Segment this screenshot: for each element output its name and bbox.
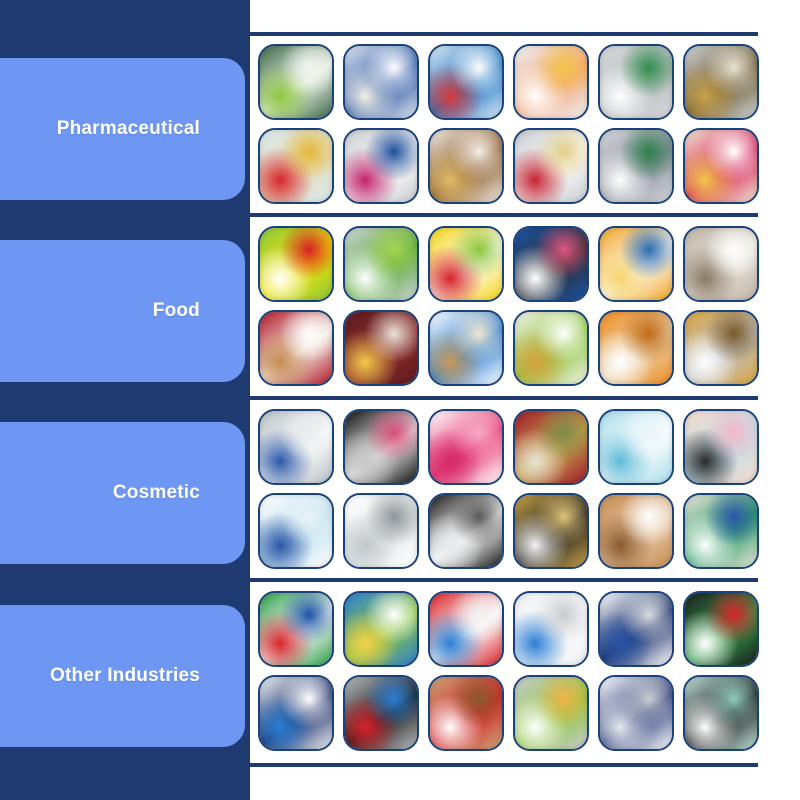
product-photo-navy-electronics-box — [600, 593, 672, 665]
product-tile[interactable] — [343, 591, 419, 667]
product-tile[interactable] — [428, 591, 504, 667]
product-photo-light-blue-skincare-boxes — [600, 411, 672, 483]
product-tile[interactable] — [683, 310, 759, 386]
section-divider-3 — [250, 578, 758, 582]
product-tile[interactable] — [598, 493, 674, 569]
product-tile[interactable] — [598, 44, 674, 120]
product-photo-blue-white-pharma-box-leaflets — [345, 46, 417, 118]
product-tile[interactable] — [683, 226, 759, 302]
category-label-food: Food — [153, 300, 200, 322]
product-tile[interactable] — [598, 409, 674, 485]
product-tile[interactable] — [343, 128, 419, 204]
product-photo-aqua-cream-jar-with-carton — [260, 495, 332, 567]
product-photo-navy-slim-device-box — [600, 677, 672, 749]
product-tile[interactable] — [258, 310, 334, 386]
product-tile[interactable] — [683, 44, 759, 120]
product-photo-bronze-eyeshadow-palette — [600, 495, 672, 567]
product-category-gallery: Pharmaceutical Food Cosmetic Other Indus… — [0, 0, 800, 800]
product-tile[interactable] — [343, 226, 419, 302]
product-photo-pastel-cosmetic-jars-and-boxes — [685, 411, 757, 483]
category-label-cosmetic: Cosmetic — [113, 482, 200, 504]
product-photo-orange-wafer-bar-display — [600, 312, 672, 384]
product-tile[interactable] — [343, 310, 419, 386]
product-tile[interactable] — [428, 44, 504, 120]
product-tile[interactable] — [258, 44, 334, 120]
product-tile[interactable] — [343, 675, 419, 751]
product-photo-skincare-display-stand-boxes — [685, 495, 757, 567]
product-grid-food — [258, 226, 758, 386]
product-photo-lipton-tea-box — [260, 228, 332, 300]
product-photo-stacked-ointment-cartons — [685, 46, 757, 118]
product-photo-cereal-bar-carton-open — [430, 312, 502, 384]
product-photo-chocolate-sandwich-cookie-packs — [515, 228, 587, 300]
product-grid-cosmetic — [258, 409, 758, 569]
product-photo-cracker-stack-with-carton — [515, 312, 587, 384]
product-tile[interactable] — [598, 310, 674, 386]
product-tile[interactable] — [343, 493, 419, 569]
product-photo-red-gold-gift-sachets — [515, 411, 587, 483]
product-tile[interactable] — [513, 226, 589, 302]
product-tile[interactable] — [343, 44, 419, 120]
category-pill-other-industries[interactable]: Other Industries — [0, 605, 245, 747]
product-tile[interactable] — [258, 493, 334, 569]
product-tile[interactable] — [428, 128, 504, 204]
product-tile[interactable] — [598, 128, 674, 204]
category-label-pharmaceutical: Pharmaceutical — [57, 118, 200, 140]
product-grid-pharmaceutical — [258, 44, 758, 204]
product-photo-mosquito-coil-green-carton — [260, 593, 332, 665]
product-photo-gold-black-lipstick-set — [515, 495, 587, 567]
product-tile[interactable] — [683, 128, 759, 204]
product-photo-vial-and-capsule-blister-box — [515, 130, 587, 202]
product-photo-assorted-pens-and-box — [345, 677, 417, 749]
product-photo-silver-foil-sachet-with-carton — [600, 46, 672, 118]
product-tile[interactable] — [513, 493, 589, 569]
product-photo-colgate-toothpaste-and-carton — [430, 593, 502, 665]
product-tile[interactable] — [428, 493, 504, 569]
product-tile[interactable] — [598, 226, 674, 302]
product-photo-syringe-carton-assortment — [600, 130, 672, 202]
product-photo-logo-baby-bottle-teat-packs — [685, 677, 757, 749]
product-tile[interactable] — [513, 128, 589, 204]
product-tile[interactable] — [683, 675, 759, 751]
product-tile[interactable] — [258, 128, 334, 204]
product-tile[interactable] — [258, 409, 334, 485]
section-divider-top — [250, 32, 758, 36]
product-tile[interactable] — [258, 591, 334, 667]
product-photo-ink-bottle-with-carton — [260, 677, 332, 749]
section-divider-bottom — [250, 763, 758, 767]
product-tile[interactable] — [258, 226, 334, 302]
product-tile[interactable] — [428, 675, 504, 751]
section-divider-2 — [250, 396, 758, 400]
product-photo-supplement-bottles-with-cartons — [515, 677, 587, 749]
product-photo-green-medicine-cartons — [260, 46, 332, 118]
product-grid-panel — [250, 0, 800, 800]
product-grid-other — [258, 591, 758, 751]
product-photo-dried-meat-vacuum-packs — [345, 312, 417, 384]
product-photo-red-blue-blister-strip-packs — [430, 46, 502, 118]
product-tile[interactable] — [683, 493, 759, 569]
product-photo-foil-tube-snack-packs — [685, 312, 757, 384]
product-photo-led-bulb-carton — [685, 593, 757, 665]
product-photo-white-tube-and-carton — [345, 495, 417, 567]
product-tile[interactable] — [513, 675, 589, 751]
product-tile[interactable] — [343, 409, 419, 485]
product-tile[interactable] — [598, 591, 674, 667]
product-tile[interactable] — [258, 675, 334, 751]
category-pill-pharmaceutical[interactable]: Pharmaceutical — [0, 58, 245, 200]
product-tile[interactable] — [513, 44, 589, 120]
product-tile[interactable] — [513, 409, 589, 485]
product-photo-white-cosmetic-bottle-and-boxes — [515, 593, 587, 665]
product-photo-red-label-ampoule-box — [260, 130, 332, 202]
product-photo-ointment-tube-and-bottle — [345, 130, 417, 202]
product-photo-toothbrush-carton-on-shelf — [430, 677, 502, 749]
category-pill-cosmetic[interactable]: Cosmetic — [0, 422, 245, 564]
category-pill-food[interactable]: Food — [0, 240, 245, 382]
product-tile[interactable] — [428, 226, 504, 302]
product-photo-pink-mask-sachet-pile — [430, 411, 502, 483]
product-tile[interactable] — [598, 675, 674, 751]
product-photo-medical-swab-sachets-row — [515, 46, 587, 118]
product-photo-brown-tablet-blister-pack — [430, 130, 502, 202]
product-photo-custard-cake-carton — [600, 228, 672, 300]
product-tile[interactable] — [428, 409, 504, 485]
product-photo-white-soap-bar-with-box — [260, 411, 332, 483]
product-tile[interactable] — [513, 310, 589, 386]
product-photo-blue-green-tablet-carton — [345, 593, 417, 665]
product-tile[interactable] — [513, 591, 589, 667]
product-photo-black-powder-jar-and-box — [430, 495, 502, 567]
category-label-other-industries: Other Industries — [50, 665, 200, 687]
product-photo-green-drink-powder-carton — [345, 228, 417, 300]
product-photo-halqas-biscuit-box — [260, 312, 332, 384]
product-photo-facial-mask-sachets-on-black — [345, 411, 417, 483]
product-photo-pink-candy-style-sachet-pile — [685, 130, 757, 202]
product-photo-foil-wrapped-snack-bars — [685, 228, 757, 300]
product-tile[interactable] — [683, 591, 759, 667]
product-photo-yellow-biscuit-carton — [430, 228, 502, 300]
section-divider-1 — [250, 213, 758, 217]
product-tile[interactable] — [428, 310, 504, 386]
product-tile[interactable] — [683, 409, 759, 485]
